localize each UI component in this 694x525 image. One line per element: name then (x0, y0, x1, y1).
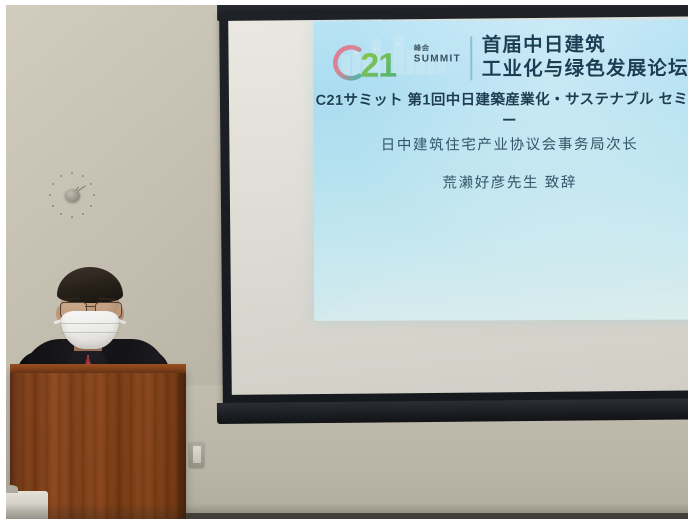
photo-frame: 21 峰会 SUMMIT 首届中日建筑 工业化与绿色发展论坛 (0, 0, 694, 525)
svg-text:21: 21 (361, 47, 397, 83)
slide-title: 首届中日建筑 工业化与绿色发展论坛 (482, 34, 688, 82)
slide-speaker-block: 日中建筑住宅产业协议会事务局次长 荒濑好彦先生 致辞 (314, 133, 688, 193)
floor-shadow (6, 503, 688, 519)
slide-header: 21 峰会 SUMMIT 首届中日建筑 工业化与绿色发展论坛 (313, 32, 688, 85)
logo-en-word: SUMMIT (414, 54, 466, 64)
podium-right-edge (176, 373, 186, 519)
slide-title-line-2: 工业化与绿色发展论坛 (482, 58, 688, 83)
logo-cn-word: 峰会 (414, 44, 466, 52)
speaker-name: 荒濑好彦先生 致辞 (314, 171, 688, 193)
logo-wordmark: 峰会 SUMMIT (414, 44, 466, 64)
mask-fold (61, 332, 119, 333)
screen-surface: 21 峰会 SUMMIT 首届中日建筑 工业化与绿色发展论坛 (228, 16, 688, 394)
screen-bottom-bar (217, 398, 688, 424)
slide-subtitle: C21サミット 第1回中日建築産業化・サステナブル セミナー (313, 88, 688, 131)
mask-fold (61, 323, 119, 324)
c21-mark-icon: 21 (330, 43, 416, 83)
projector-screen: 21 峰会 SUMMIT 首届中日建筑 工业化与绿色发展论坛 (219, 5, 688, 424)
conference-photo: 21 峰会 SUMMIT 首届中日建筑 工业化与绿色发展论坛 (6, 5, 688, 519)
slide-title-line-1: 首届中日建筑 (482, 34, 688, 59)
eyeglass-bridge (85, 306, 95, 307)
c21-summit-logo: 21 峰会 SUMMIT (330, 32, 462, 84)
slide-wave-4 (313, 170, 504, 321)
slide-wave-5 (313, 249, 688, 321)
title-divider (471, 36, 473, 80)
screen-border: 21 峰会 SUMMIT 首届中日建筑 工业化与绿色发展论坛 (219, 6, 688, 404)
podium-top-edge (10, 364, 186, 373)
speaker-affiliation: 日中建筑住宅产业协议会事务局次长 (314, 133, 688, 155)
projected-slide: 21 峰会 SUMMIT 首届中日建筑 工业化与绿色发展论坛 (313, 20, 688, 321)
